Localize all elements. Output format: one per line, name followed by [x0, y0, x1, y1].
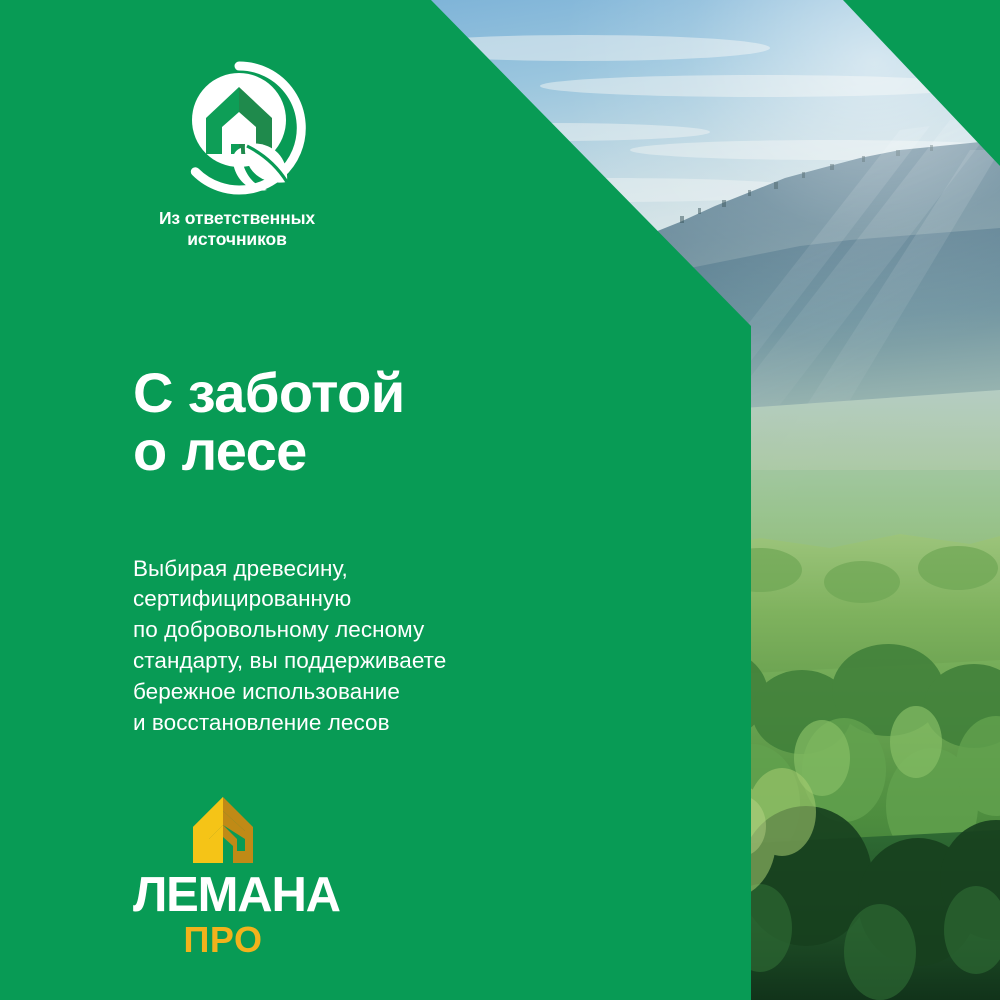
body-copy: Выбирая древесину, сертифицированную по …	[133, 554, 446, 739]
brand-logo: ЛЕМАНА ПРО	[133, 795, 373, 958]
headline: С заботой о лесе	[133, 364, 405, 482]
lemana-house-roof-icon	[185, 795, 261, 867]
brand-suffix: ПРО	[133, 922, 313, 958]
certification-caption: Из ответственных источников	[137, 208, 337, 251]
poster-canvas: Из ответственных источников С заботой о …	[0, 0, 1000, 1000]
brand-name: ЛЕМАНА	[133, 871, 313, 920]
poster-content: Из ответственных источников С заботой о …	[0, 0, 1000, 1000]
responsible-sources-circle-house-leaf-icon	[171, 60, 307, 196]
certification-badge: Из ответственных источников	[133, 60, 393, 251]
